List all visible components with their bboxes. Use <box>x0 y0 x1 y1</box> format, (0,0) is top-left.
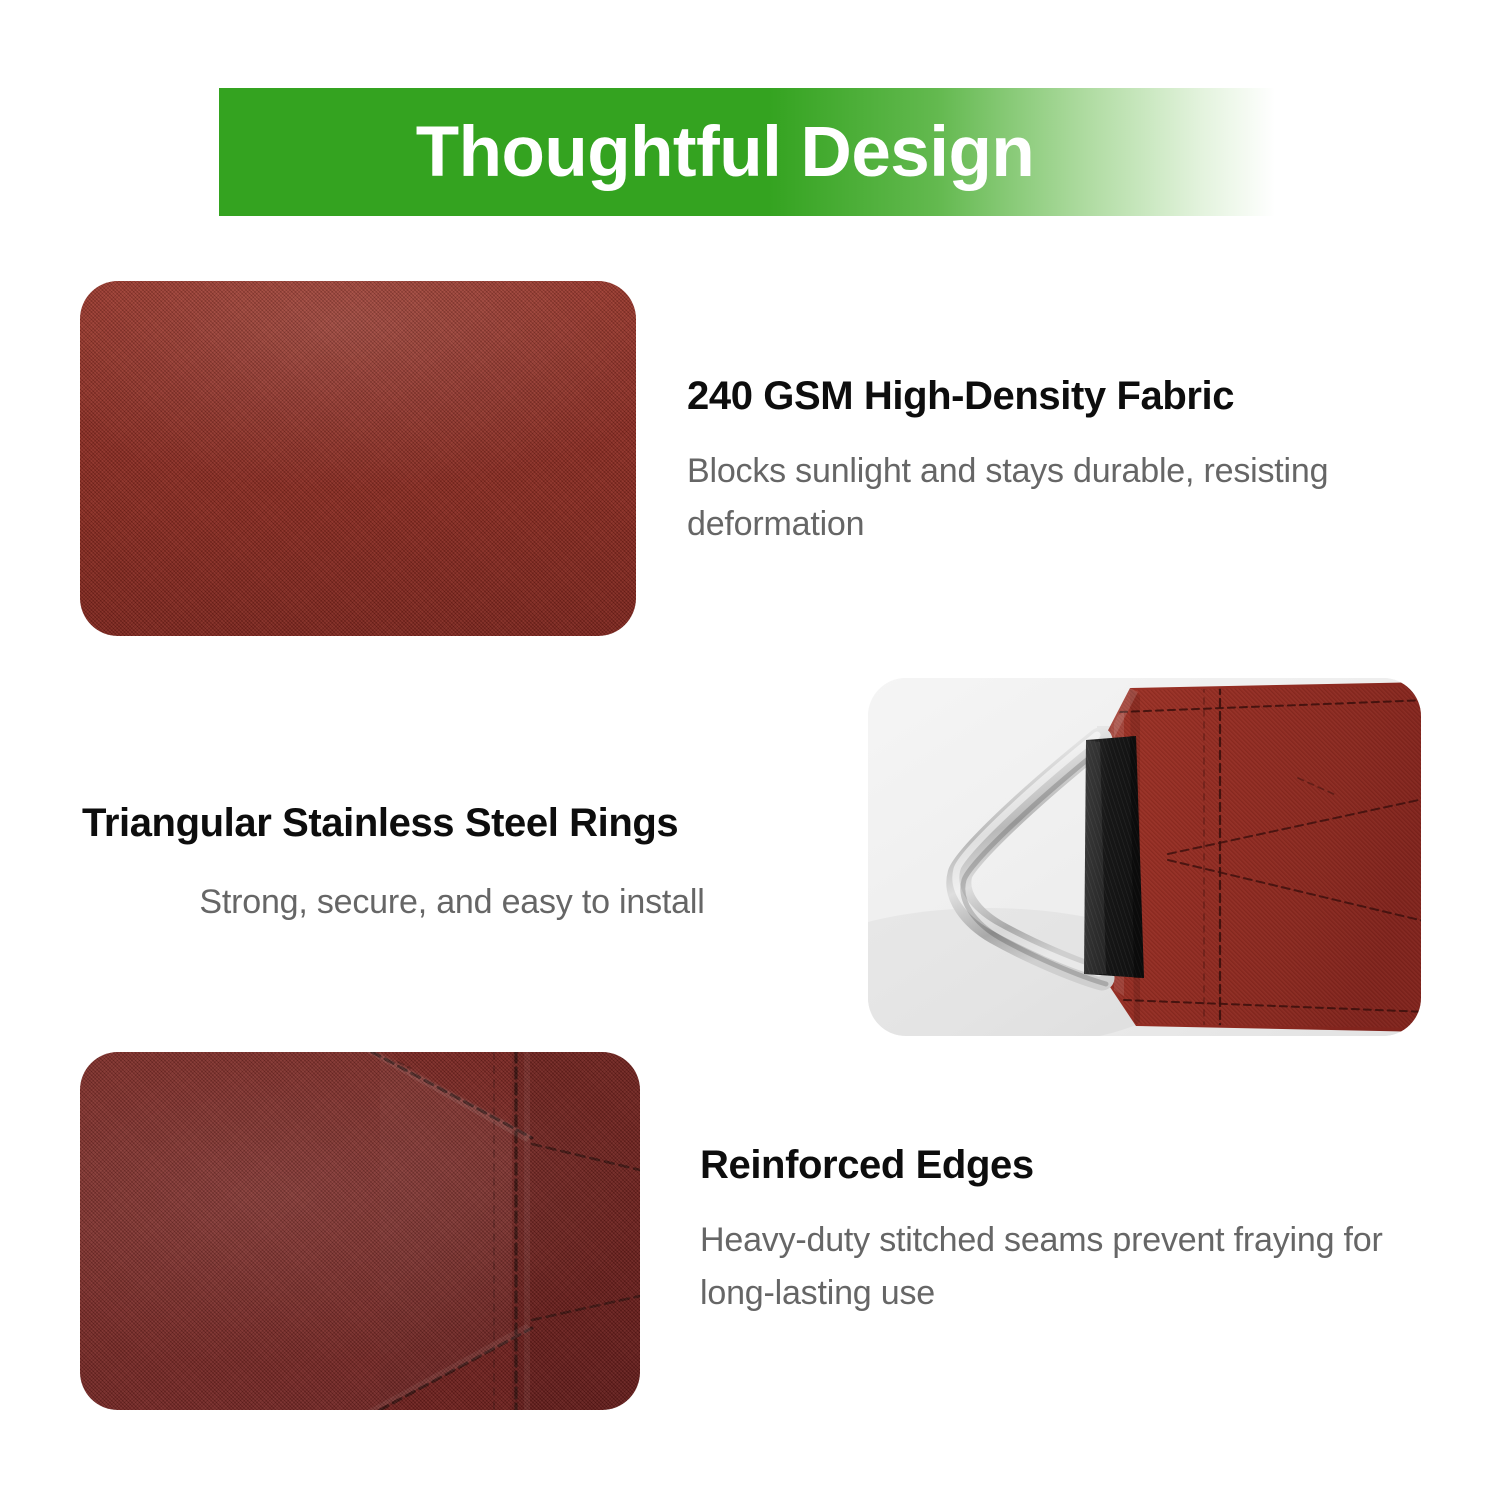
steel-ring-photo <box>868 678 1421 1036</box>
feature-description-fabric: Blocks sunlight and stays durable, resis… <box>687 445 1367 550</box>
feature-title-fabric: 240 GSM High-Density Fabric <box>687 373 1427 419</box>
feature-description-edges: Heavy-duty stitched seams prevent frayin… <box>700 1214 1420 1319</box>
header-banner: Thoughtful Design <box>219 88 1275 216</box>
feature-title-edges: Reinforced Edges <box>700 1142 1460 1188</box>
fabric-swatch-photo <box>80 281 636 636</box>
feature-description-rings: Strong, secure, and easy to install <box>82 876 822 929</box>
feature-title-rings: Triangular Stainless Steel Rings <box>82 800 822 846</box>
page-title: Thoughtful Design <box>416 117 1079 188</box>
reinforced-edge-illustration <box>80 1052 640 1410</box>
feature-text-rings: Triangular Stainless Steel Rings Strong,… <box>82 800 822 929</box>
feature-text-edges: Reinforced Edges Heavy-duty stitched sea… <box>700 1142 1460 1319</box>
steel-ring-illustration <box>868 678 1421 1036</box>
reinforced-edge-photo <box>80 1052 640 1410</box>
feature-text-fabric: 240 GSM High-Density Fabric Blocks sunli… <box>687 373 1427 550</box>
